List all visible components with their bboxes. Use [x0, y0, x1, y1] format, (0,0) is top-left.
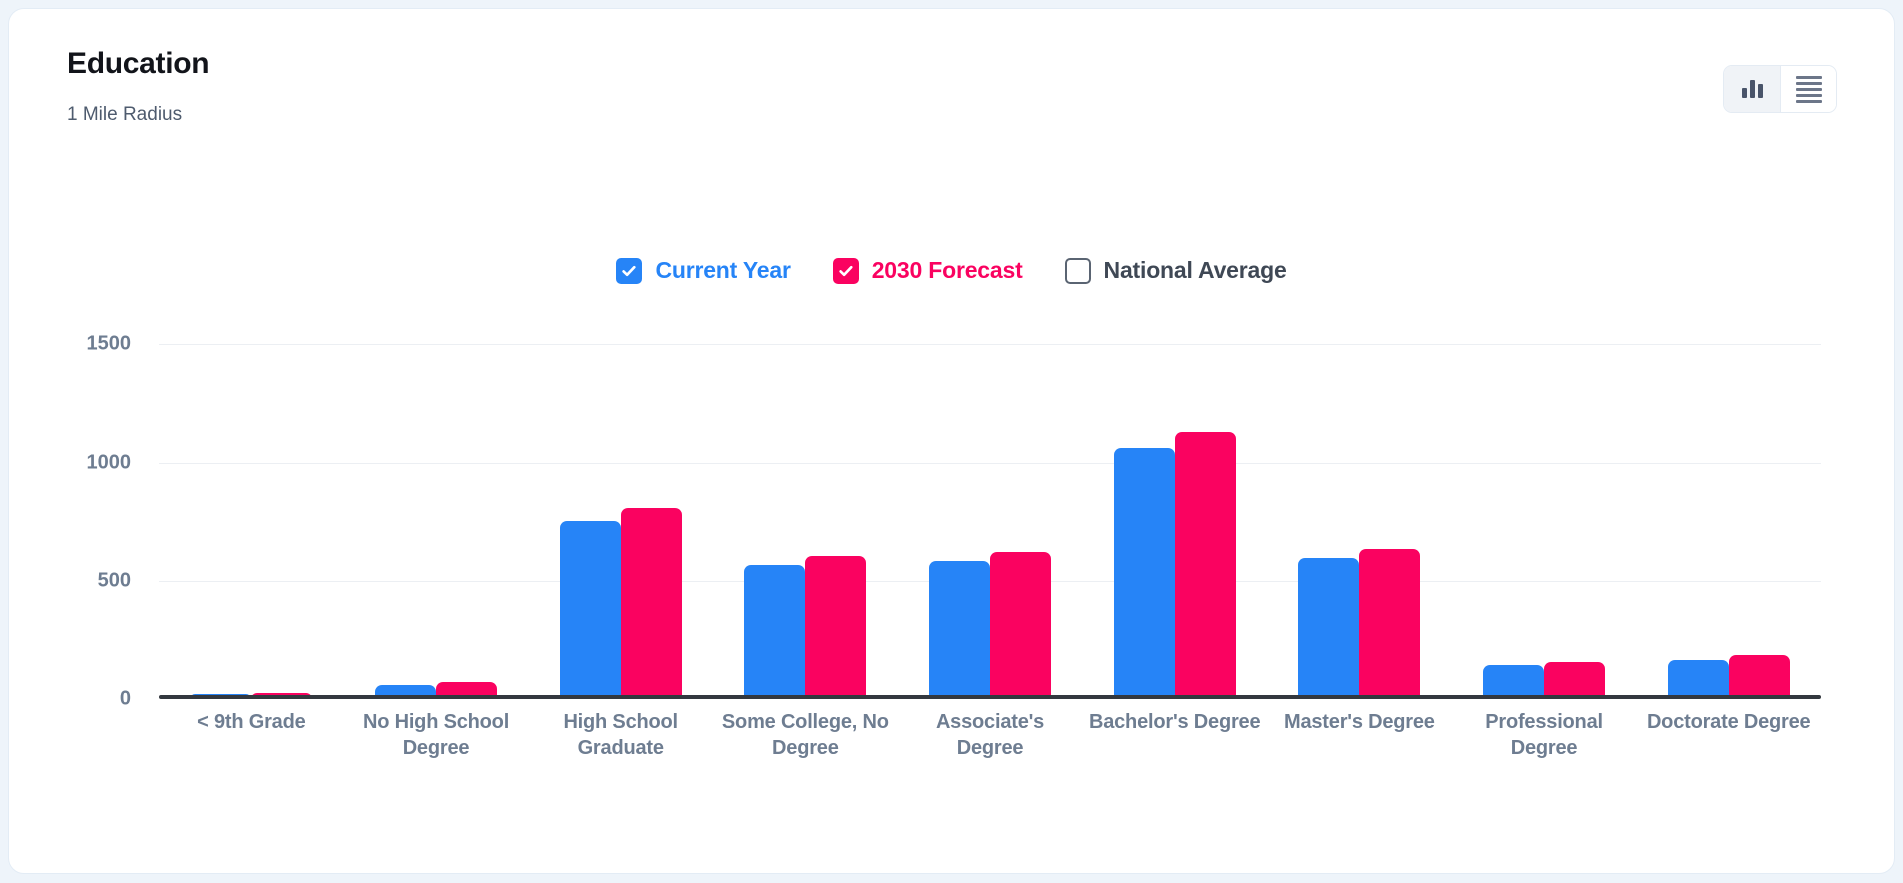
x-axis-label: Associate's Degree: [898, 709, 1083, 761]
y-axis-tick-label: 0: [120, 688, 131, 711]
bar[interactable]: [560, 521, 621, 699]
legend-item-0[interactable]: Current Year: [616, 257, 790, 284]
bar[interactable]: [621, 508, 682, 699]
education-card: Education 1 Mile Radius Current Year2030…: [8, 8, 1895, 874]
checkbox-checked-icon[interactable]: [616, 258, 642, 284]
bar-group: [898, 309, 1083, 699]
bar-group: [1452, 309, 1637, 699]
bar-group: [1082, 309, 1267, 699]
x-axis-label: No High School Degree: [344, 709, 529, 761]
x-axis-label: Master's Degree: [1267, 709, 1452, 761]
bar-group: [528, 309, 713, 699]
view-toggle[interactable]: [1723, 65, 1837, 113]
bar-group: [344, 309, 529, 699]
bar[interactable]: [1359, 549, 1420, 699]
y-axis-tick-label: 500: [98, 569, 131, 592]
bar-group: [159, 309, 344, 699]
legend-label: National Average: [1104, 257, 1287, 284]
x-axis-label: < 9th Grade: [159, 709, 344, 761]
bar[interactable]: [1668, 660, 1729, 699]
x-axis-labels: < 9th GradeNo High School DegreeHigh Sch…: [159, 709, 1821, 761]
bar-groups: [159, 309, 1821, 699]
page-title: Education: [67, 47, 209, 81]
bar[interactable]: [990, 552, 1051, 699]
bar[interactable]: [1729, 655, 1790, 699]
bar-group: [1267, 309, 1452, 699]
chart-view-button[interactable]: [1724, 66, 1780, 112]
bar[interactable]: [1483, 665, 1544, 699]
x-axis-label: High School Graduate: [528, 709, 713, 761]
table-view-button[interactable]: [1780, 66, 1836, 112]
x-axis-line: [159, 695, 1821, 699]
x-axis-label: Bachelor's Degree: [1082, 709, 1267, 761]
x-axis-label: Some College, No Degree: [713, 709, 898, 761]
x-axis-label: Doctorate Degree: [1636, 709, 1821, 761]
legend-item-2[interactable]: National Average: [1065, 257, 1287, 284]
x-axis-label: Professional Degree: [1452, 709, 1637, 761]
y-axis-tick-label: 1500: [87, 333, 132, 356]
legend-label: 2030 Forecast: [872, 257, 1023, 284]
bar[interactable]: [929, 561, 990, 699]
bar[interactable]: [1175, 432, 1236, 699]
y-axis-tick-label: 1000: [87, 451, 132, 474]
bar[interactable]: [744, 565, 805, 699]
bar[interactable]: [805, 556, 866, 699]
legend-label: Current Year: [655, 257, 790, 284]
chart-legend: Current Year2030 ForecastNational Averag…: [9, 257, 1894, 284]
bar-group: [713, 309, 898, 699]
checkbox-unchecked-icon[interactable]: [1065, 258, 1091, 284]
list-icon: [1796, 76, 1822, 103]
page-subtitle: 1 Mile Radius: [67, 104, 182, 126]
bar[interactable]: [1544, 662, 1605, 699]
checkbox-checked-icon[interactable]: [833, 258, 859, 284]
bar-group: [1636, 309, 1821, 699]
legend-item-1[interactable]: 2030 Forecast: [833, 257, 1023, 284]
bar[interactable]: [1114, 448, 1175, 699]
bar-chart-icon: [1742, 80, 1763, 98]
bar[interactable]: [1298, 558, 1359, 699]
chart-plot-area: 050010001500: [159, 309, 1821, 699]
